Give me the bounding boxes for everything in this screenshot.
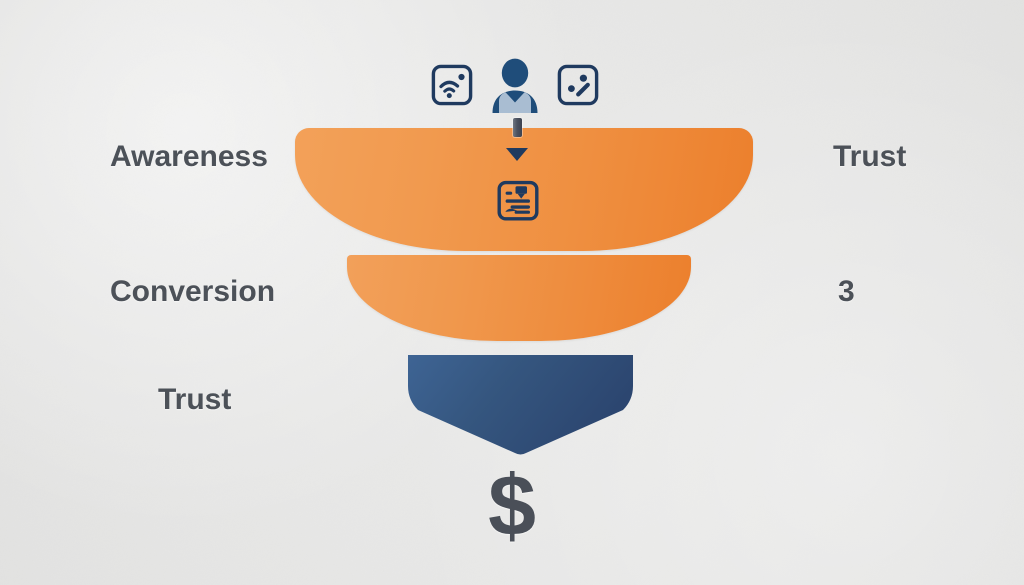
document-icon[interactable] xyxy=(496,180,540,222)
analytics-square-icon[interactable] xyxy=(556,63,600,107)
annotation-right-conversion: 3 xyxy=(838,275,855,309)
dollar-outcome-symbol: $ xyxy=(462,462,562,552)
stage-label-trust: Trust xyxy=(158,383,231,417)
stage-label-conversion: Conversion xyxy=(110,275,275,309)
wifi-icon[interactable] xyxy=(430,63,474,107)
funnel-segment-conversion xyxy=(347,255,691,341)
person-icon[interactable] xyxy=(487,56,543,114)
connector-stem xyxy=(513,118,522,137)
header-icon-row xyxy=(430,56,600,114)
annotation-right-awareness: Trust xyxy=(833,140,906,174)
stage-label-awareness: Awareness xyxy=(110,140,268,174)
funnel-segment-trust xyxy=(405,352,636,456)
arrow-down-icon xyxy=(506,148,528,161)
